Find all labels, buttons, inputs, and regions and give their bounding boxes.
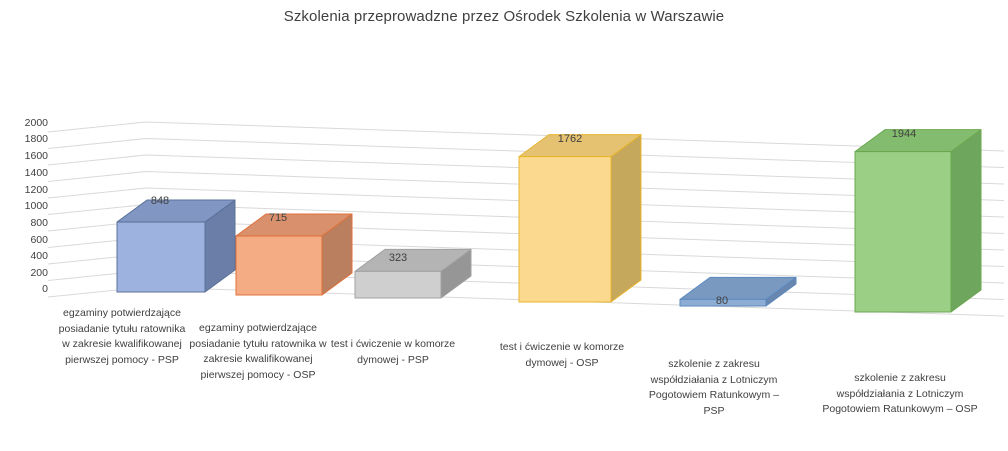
bar-value-label: 848 bbox=[151, 195, 169, 207]
bar-2 bbox=[236, 214, 352, 295]
bar-value-label: 715 bbox=[269, 212, 287, 224]
bar-3 bbox=[355, 249, 471, 298]
bar-1 bbox=[117, 200, 235, 292]
bar-4 bbox=[519, 135, 641, 302]
bar-value-label: 1762 bbox=[558, 133, 582, 145]
bar-5 bbox=[680, 277, 796, 306]
bar-6 bbox=[855, 130, 981, 312]
category-label: test i ćwiczenie w komorze dymowej - PSP bbox=[322, 337, 464, 368]
category-label: test i ćwiczenie w komorze dymowej - OSP bbox=[492, 340, 632, 371]
bar-value-label: 80 bbox=[716, 295, 728, 307]
chart-container: Szkolenia przeprowadzne przez Ośrodek Sz… bbox=[0, 0, 1008, 451]
bar-value-label: 323 bbox=[389, 252, 407, 264]
category-label: szkolenie z zakresu współdziałania z Lot… bbox=[639, 357, 789, 419]
bar-value-label: 1944 bbox=[892, 128, 916, 140]
category-label: egzaminy potwierdzające posiadanie tytuł… bbox=[188, 321, 328, 383]
category-label: szkolenie z zakresu współdziałania z Lot… bbox=[820, 371, 980, 418]
category-label: egzaminy potwierdzające posiadanie tytuł… bbox=[56, 306, 188, 368]
